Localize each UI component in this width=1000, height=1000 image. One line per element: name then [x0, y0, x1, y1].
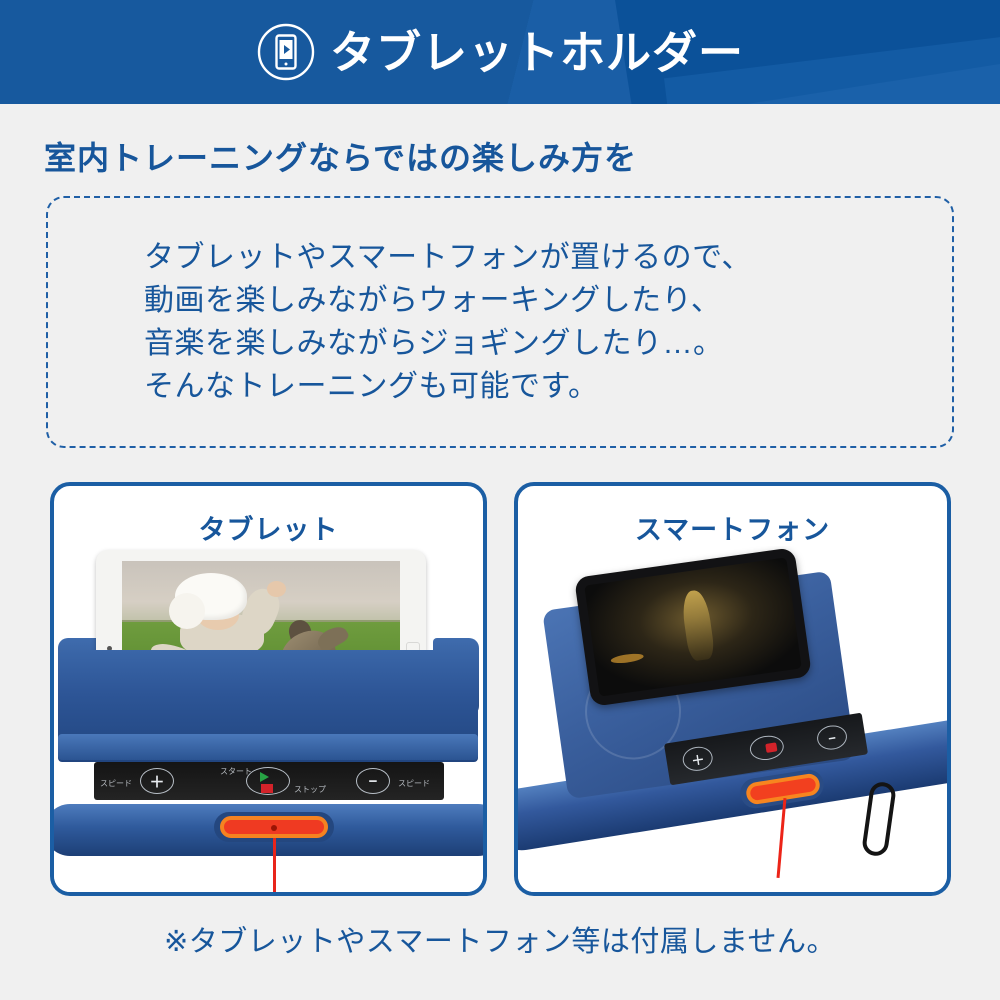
photo-girl-hand: [267, 581, 286, 597]
section-subtitle: 室内トレーニングならではの楽しみ方を: [44, 133, 637, 179]
panel-title-tablet: タブレット: [54, 508, 483, 547]
treadmill-console-left: スピード ＋ スタート ストップ − スピード: [94, 762, 444, 800]
play-icon: [260, 772, 269, 782]
speed-down-button[interactable]: −: [356, 768, 390, 794]
speed-up-button[interactable]: ＋: [140, 768, 174, 794]
start-stop-button[interactable]: [748, 733, 785, 762]
description-box: タブレットやスマートフォンが置けるので、 動画を楽しみながらウォーキングしたり、…: [46, 196, 954, 448]
video-glow: [611, 652, 644, 664]
stop-icon: [261, 784, 273, 793]
safety-cord-left: [273, 838, 276, 896]
page-title: タブレットホルダー: [330, 30, 744, 75]
description-line: そんなトレーニングも可能です。: [144, 365, 952, 408]
safety-key-dot: [271, 825, 277, 831]
panel-smartphone: スマートフォン ＋ −: [514, 482, 951, 896]
photo-bonnet-frill: [169, 593, 205, 629]
description-line: 動画を楽しみながらウォーキングしたり、: [144, 279, 952, 322]
speed-down-button[interactable]: −: [815, 723, 848, 751]
start-stop-button[interactable]: [246, 767, 290, 795]
panel-tablet: タブレット: [50, 482, 487, 896]
speed-up-button[interactable]: ＋: [681, 745, 714, 773]
product-photo-smartphone: ＋ −: [518, 546, 947, 896]
speed-label-right: スピード: [398, 778, 430, 789]
smartphone-screen-video: [584, 557, 802, 696]
tablet-holder-lip: [58, 734, 478, 760]
panel-title-smartphone: スマートフォン: [518, 508, 947, 547]
video-figure: [680, 589, 716, 661]
speed-label-left: スピード: [100, 778, 132, 789]
page-header: タブレットホルダー: [0, 0, 1000, 104]
stop-icon: [765, 742, 777, 753]
description-line: タブレットやスマートフォンが置けるので、: [144, 236, 952, 279]
product-photo-tablet: スピード ＋ スタート ストップ − スピード: [54, 546, 483, 896]
description-line: 音楽を楽しみながらジョギングしたり…。: [144, 322, 952, 365]
tablet-play-icon: [256, 22, 316, 82]
stop-label: ストップ: [294, 784, 326, 795]
footer-disclaimer: ※タブレットやスマートフォン等は付属しません。: [0, 918, 1000, 960]
